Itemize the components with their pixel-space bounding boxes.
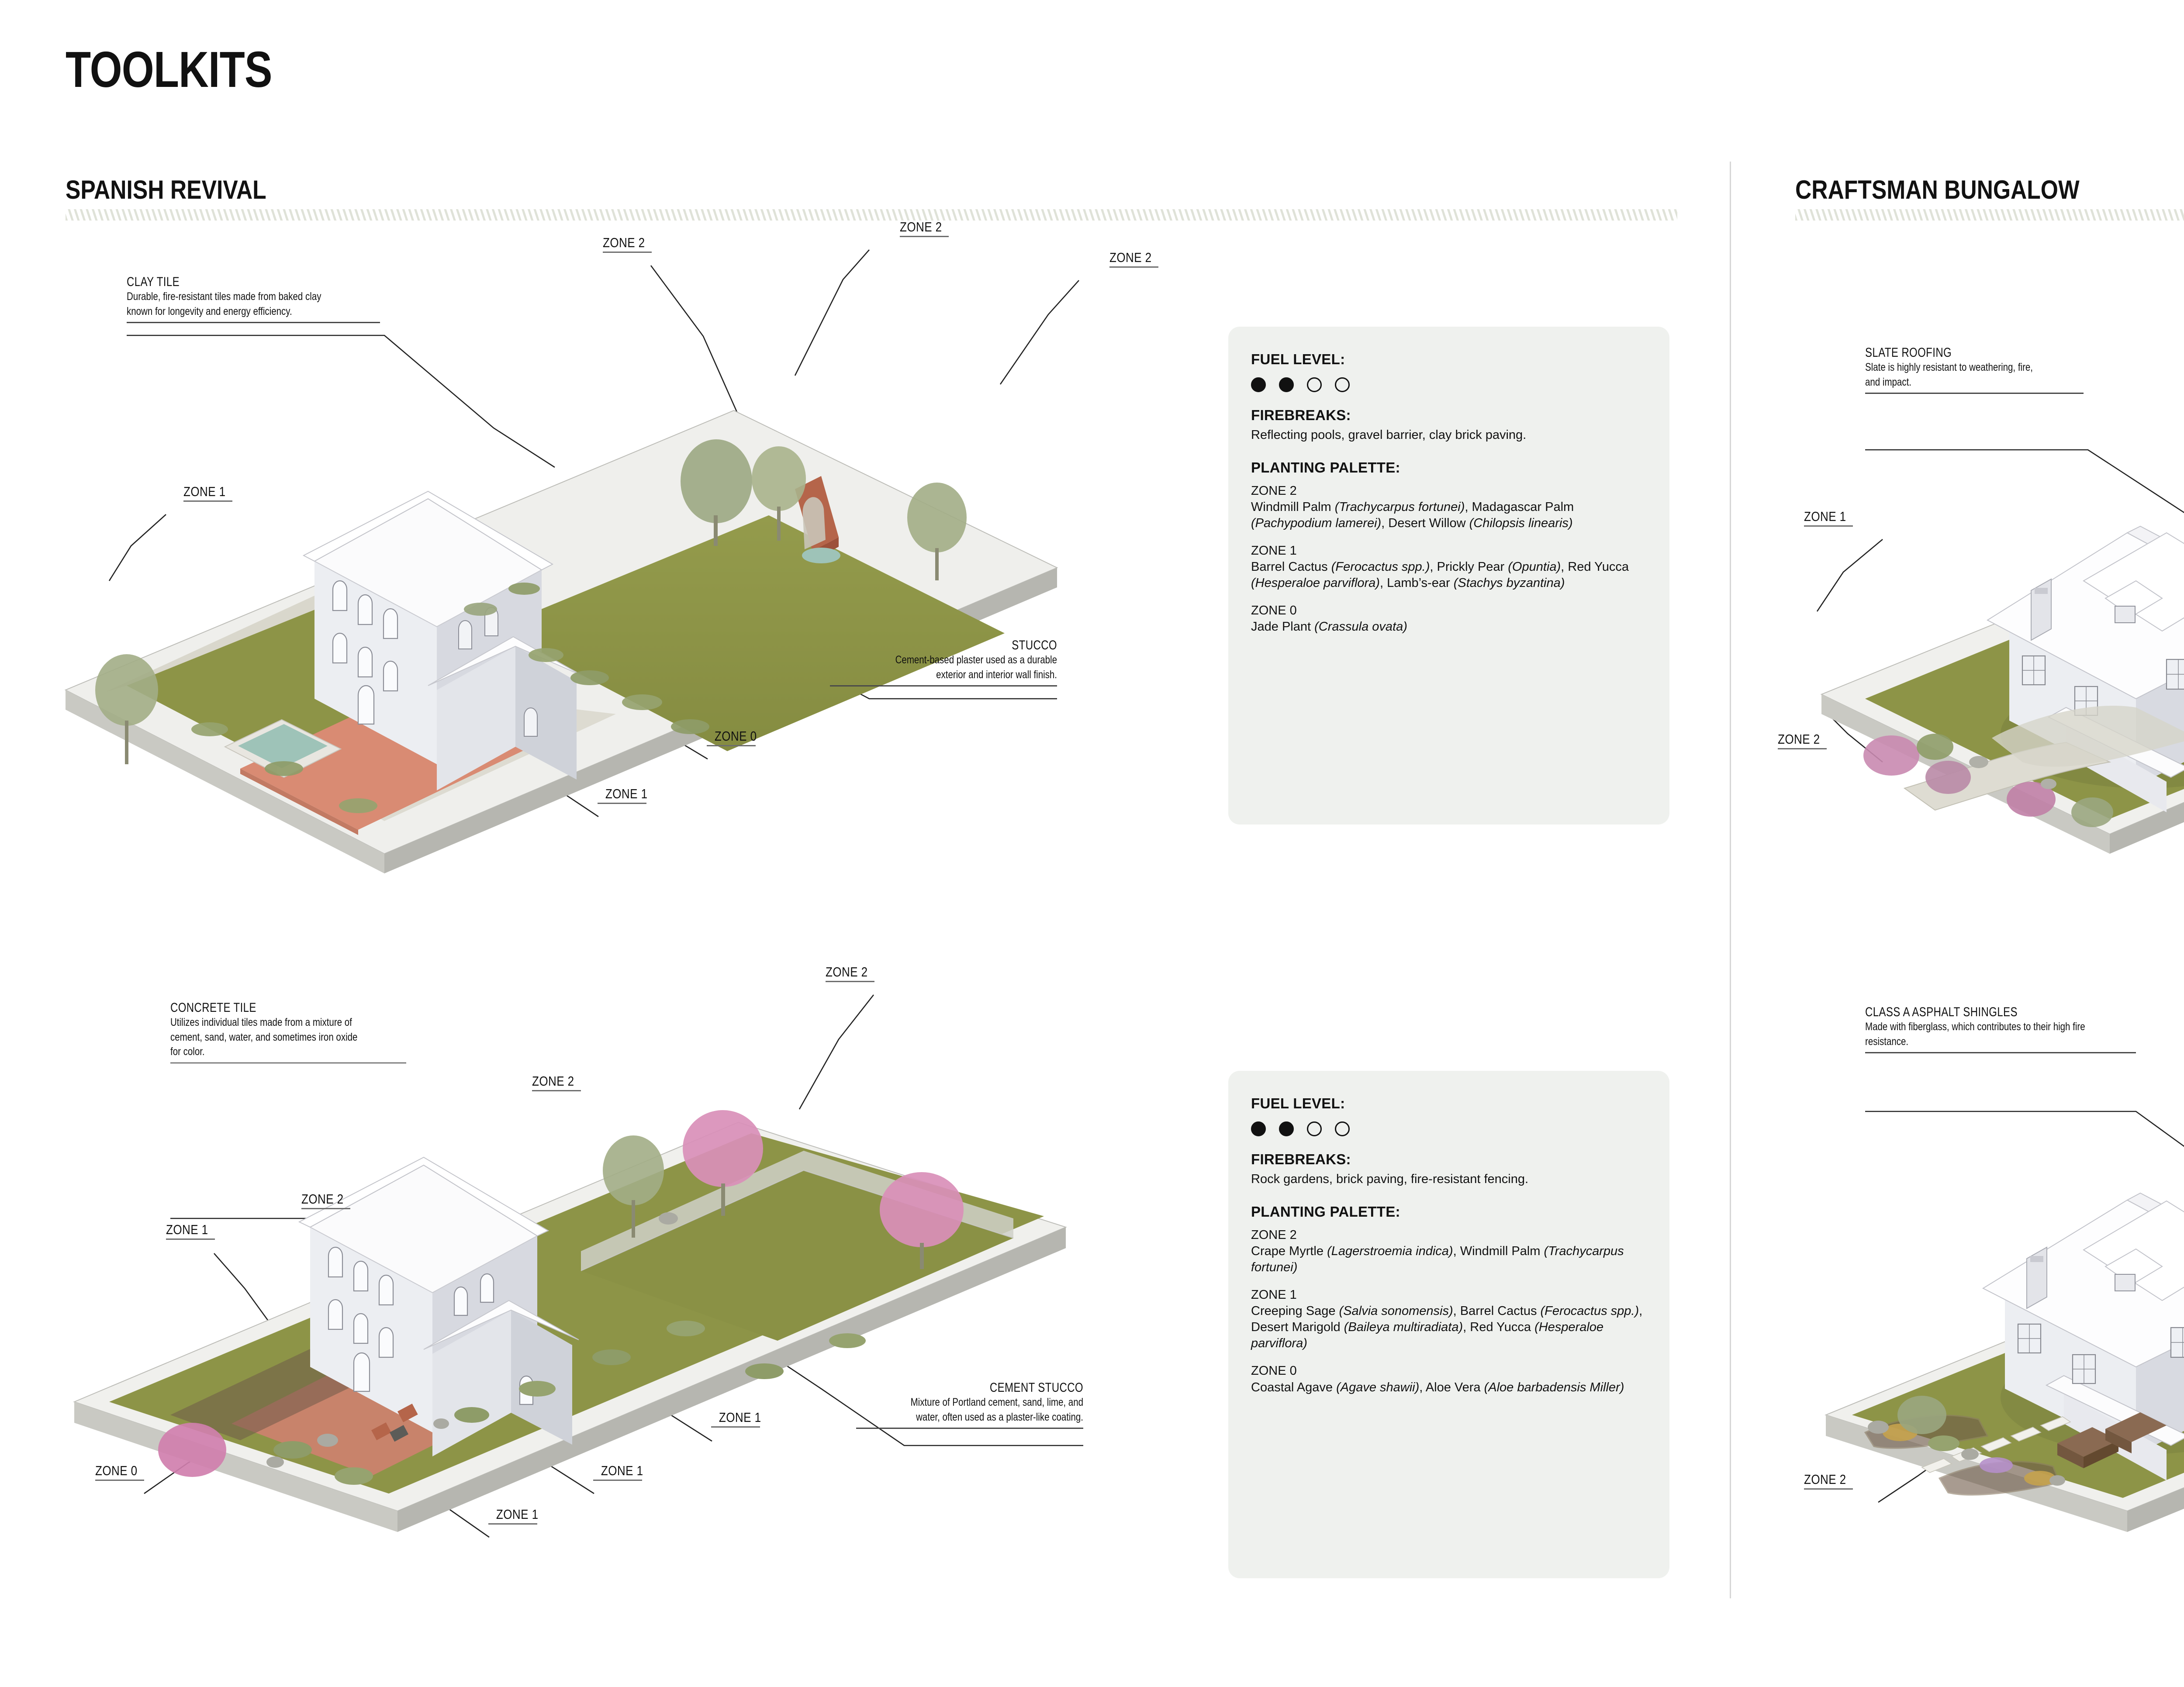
scene-svg <box>66 1039 1083 1528</box>
callout-clay-tile: CLAY TILE Durable, fire-resistant tiles … <box>127 274 380 323</box>
callout-rule <box>1865 1052 2136 1053</box>
zone-label-z1-left: ZONE 1 <box>166 1223 215 1240</box>
zone-text: ZONE 2 <box>826 965 867 979</box>
zone-label-z0: ZONE 0 <box>707 729 756 746</box>
zone-rule <box>900 236 949 237</box>
zone-label-z2-c: ZONE 2 <box>1109 251 1158 268</box>
section-rule <box>66 209 1677 221</box>
planting-palette-heading: PLANTING PALETTE: <box>1251 459 1647 476</box>
zone-rule <box>166 1239 215 1240</box>
callout-body: Slate is highly resistant to weathering,… <box>1865 360 2044 390</box>
fuel-dot-3-empty <box>1307 1121 1322 1136</box>
zone-rule <box>301 1208 350 1209</box>
firebreaks-text: Rock gardens, brick paving, fire-resista… <box>1251 1171 1647 1188</box>
section-title: SPANISH REVIVAL <box>66 175 1451 205</box>
zone-label-z2-a: ZONE 2 <box>603 236 652 253</box>
fuel-level-heading: FUEL LEVEL: <box>1251 1095 1647 1112</box>
plant-common-name: Barrel Cactus <box>1460 1304 1537 1318</box>
page-title: TOOLKITS <box>66 40 272 99</box>
plant-common-name: Aloe Vera <box>1426 1380 1481 1394</box>
fuel-level-dots <box>1251 377 1647 392</box>
palette-plant-list: Barrel Cactus (Ferocactus spp.), Prickly… <box>1251 559 1647 591</box>
palette-plant-list: Coastal Agave (Agave shawii), Aloe Vera … <box>1251 1380 1647 1396</box>
palette-zone-group: ZONE 2Crape Myrtle (Lagerstroemia indica… <box>1251 1227 1647 1276</box>
plant-common-name: Lamb’s-ear <box>1387 576 1450 590</box>
plant-common-name: Desert Marigold <box>1251 1320 1341 1334</box>
callout-slate-roofing: SLATE ROOFING Slate is highly resistant … <box>1865 345 2084 394</box>
callout-rule <box>1865 393 2084 394</box>
zone-label-z2-mid: ZONE 2 <box>532 1074 581 1091</box>
plant-latin-name: (Pachypodium lamerei) <box>1251 516 1381 530</box>
palette-zone-label: ZONE 1 <box>1251 1287 1647 1303</box>
plant-common-name: Creeping Sage <box>1251 1304 1335 1318</box>
zone-label-z2-left-low: ZONE 2 <box>1778 732 1827 749</box>
zone-rule <box>1804 525 1853 527</box>
zone-label-z1-left: ZONE 1 <box>183 485 232 502</box>
callout-stucco: STUCCO Cement-based plaster used as a du… <box>830 638 1057 687</box>
plant-latin-name: (Baileya multiradiata) <box>1344 1320 1463 1334</box>
plant-common-name: Desert Willow <box>1388 516 1465 530</box>
zone-text: ZONE 1 <box>601 1464 642 1477</box>
plant-common-name: Red Yucca <box>1470 1320 1531 1334</box>
plant-latin-name: (Salvia sonomensis) <box>1339 1304 1453 1318</box>
section-header-spanish-revival: SPANISH REVIVAL <box>66 175 1677 221</box>
fuel-dot-1-filled <box>1251 1121 1266 1136</box>
zone-label-z2-side: ZONE 2 <box>301 1192 350 1209</box>
palette-zone-group: ZONE 0Coastal Agave (Agave shawii), Aloe… <box>1251 1363 1647 1395</box>
plant-common-name: Barrel Cactus <box>1251 560 1328 574</box>
zone-label-z2-left: ZONE 2 <box>1804 1473 1853 1490</box>
fuel-level-heading: FUEL LEVEL: <box>1251 351 1647 368</box>
zone-rule <box>598 803 646 804</box>
fuel-dot-4-empty <box>1335 1121 1350 1136</box>
zone-label-z0: ZONE 0 <box>95 1464 144 1481</box>
zone-text: ZONE 2 <box>1778 732 1819 746</box>
zone-text: ZONE 2 <box>1804 1473 1845 1486</box>
plant-latin-name: (Hesperaloe parviflora) <box>1251 576 1380 590</box>
scene-svg <box>52 384 1070 865</box>
info-panel-spanish-revival-2: FUEL LEVEL: FIREBREAKS: Rock gardens, br… <box>1228 1071 1669 1578</box>
zone-text: ZONE 1 <box>183 485 225 498</box>
planting-palette-list: ZONE 2Windmill Palm (Trachycarpus fortun… <box>1251 483 1647 635</box>
plant-common-name: Red Yucca <box>1568 560 1629 574</box>
zone-rule <box>826 981 874 982</box>
zone-text: ZONE 2 <box>900 220 941 234</box>
plant-common-name: Jade Plant <box>1251 620 1311 634</box>
callout-title: CONCRETE TILE <box>170 1000 359 1015</box>
callout-title: STUCCO <box>875 638 1057 653</box>
zone-rule <box>593 1480 642 1481</box>
callout-body: Mixture of Portland cement, sand, lime, … <box>897 1395 1083 1425</box>
callout-body: Durable, fire-resistant tiles made from … <box>127 290 335 319</box>
palette-zone-group: ZONE 0Jade Plant (Crassula ovata) <box>1251 603 1647 635</box>
zone-label-z1-bottom: ZONE 1 <box>598 787 646 804</box>
zone-text: ZONE 0 <box>715 729 756 743</box>
fuel-dot-2-filled <box>1279 377 1294 392</box>
palette-plant-list: Crape Myrtle (Lagerstroemia indica), Win… <box>1251 1243 1647 1276</box>
zone-rule <box>488 1523 537 1525</box>
firebreaks-text: Reflecting pools, gravel barrier, clay b… <box>1251 427 1647 444</box>
isometric-scene-craftsman-2 <box>1813 1048 2184 1528</box>
callout-title: CLASS A ASPHALT SHINGLES <box>1865 1004 2082 1020</box>
zone-label-z1-left: ZONE 1 <box>1804 510 1853 527</box>
section-header-craftsman-bungalow: CRAFTSMAN BUNGALOW <box>1795 175 2184 221</box>
callout-rule <box>127 322 380 323</box>
callout-concrete-tile: CONCRETE TILE Utilizes individual tiles … <box>170 1000 406 1063</box>
planting-palette-list: ZONE 2Crape Myrtle (Lagerstroemia indica… <box>1251 1227 1647 1396</box>
plant-latin-name: (Lagerstroemia indica) <box>1327 1244 1453 1258</box>
isometric-scene-spanish-revival-1 <box>52 384 1070 865</box>
section-rule <box>1795 209 2184 221</box>
callout-title: CEMENT STUCCO <box>902 1380 1083 1395</box>
firebreaks-heading: FIREBREAKS: <box>1251 1151 1647 1168</box>
zone-rule <box>183 500 232 502</box>
zone-text: ZONE 2 <box>1109 251 1151 264</box>
callout-rule <box>830 685 1057 687</box>
zone-label-z1-low: ZONE 1 <box>593 1464 642 1481</box>
column-divider <box>1730 162 1731 1598</box>
plant-common-name: Coastal Agave <box>1251 1380 1333 1394</box>
plant-common-name: Windmill Palm <box>1460 1244 1541 1258</box>
palette-zone-group: ZONE 2Windmill Palm (Trachycarpus fortun… <box>1251 483 1647 531</box>
callout-body: Cement-based plaster used as a durable e… <box>871 653 1057 682</box>
planting-palette-heading: PLANTING PALETTE: <box>1251 1204 1647 1220</box>
palette-zone-label: ZONE 1 <box>1251 543 1647 559</box>
zone-text: ZONE 1 <box>1804 510 1845 523</box>
zone-rule <box>707 745 756 746</box>
plant-common-name: Windmill Palm <box>1251 500 1331 514</box>
fuel-dot-2-filled <box>1279 1121 1294 1136</box>
plant-common-name: Prickly Pear <box>1437 560 1505 574</box>
plant-latin-name: (Ferocactus spp.) <box>1541 1304 1639 1318</box>
zone-text: ZONE 2 <box>532 1074 573 1088</box>
callout-rule <box>170 1063 406 1064</box>
palette-zone-group: ZONE 1Barrel Cactus (Ferocactus spp.), P… <box>1251 543 1647 591</box>
callout-class-a-asphalt-shingles: CLASS A ASPHALT SHINGLES Made with fiber… <box>1865 1004 2136 1053</box>
zone-text: ZONE 1 <box>496 1508 537 1521</box>
plant-latin-name: (Trachycarpus fortunei) <box>1335 500 1465 514</box>
zone-text: ZONE 0 <box>95 1464 136 1477</box>
zone-rule <box>711 1426 760 1428</box>
zone-rule <box>1109 266 1158 268</box>
palette-zone-label: ZONE 2 <box>1251 483 1647 499</box>
callout-title: SLATE ROOFING <box>1865 345 2040 360</box>
zone-rule <box>95 1480 144 1481</box>
zone-text: ZONE 1 <box>719 1411 760 1424</box>
zone-label-z1-mid-right: ZONE 1 <box>711 1411 760 1428</box>
zone-rule <box>1804 1488 1853 1490</box>
plant-latin-name: (Stachys byzantina) <box>1454 576 1565 590</box>
section-title: CRAFTSMAN BUNGALOW <box>1795 175 2184 205</box>
callout-body: Utilizes individual tiles made from a mi… <box>170 1015 364 1059</box>
zone-label-z2-top: ZONE 2 <box>826 965 874 982</box>
fuel-dot-1-filled <box>1251 377 1266 392</box>
zone-text: ZONE 2 <box>603 236 644 249</box>
zone-label-z2-b: ZONE 2 <box>900 220 949 237</box>
palette-plant-list: Jade Plant (Crassula ovata) <box>1251 619 1647 635</box>
plant-common-name: Madagascar Palm <box>1472 500 1574 514</box>
fuel-level-dots <box>1251 1121 1647 1136</box>
isometric-scene-spanish-revival-2 <box>66 1039 1083 1528</box>
zone-text: ZONE 1 <box>166 1223 207 1236</box>
firebreaks-heading: FIREBREAKS: <box>1251 407 1647 424</box>
zone-text: ZONE 1 <box>605 787 646 800</box>
fuel-dot-3-empty <box>1307 377 1322 392</box>
palette-plant-list: Windmill Palm (Trachycarpus fortunei), M… <box>1251 499 1647 531</box>
zone-rule <box>532 1090 581 1091</box>
callout-rule <box>856 1428 1083 1429</box>
scene-svg <box>1813 1048 2184 1528</box>
scene-svg <box>1804 393 2184 830</box>
callout-title: CLAY TILE <box>127 274 329 290</box>
palette-plant-list: Creeping Sage (Salvia sonomensis), Barre… <box>1251 1303 1647 1352</box>
zone-rule <box>1778 748 1827 749</box>
plant-latin-name: (Chilopsis linearis) <box>1469 516 1573 530</box>
plant-common-name: Crape Myrtle <box>1251 1244 1324 1258</box>
zone-rule <box>603 252 652 253</box>
zone-label-z1-lowest: ZONE 1 <box>488 1508 537 1525</box>
palette-zone-label: ZONE 2 <box>1251 1227 1647 1243</box>
palette-zone-group: ZONE 1Creeping Sage (Salvia sonomensis),… <box>1251 1287 1647 1352</box>
info-panel-spanish-revival-1: FUEL LEVEL: FIREBREAKS: Reflecting pools… <box>1228 327 1669 825</box>
callout-cement-stucco: CEMENT STUCCO Mixture of Portland cement… <box>856 1380 1083 1429</box>
palette-zone-label: ZONE 0 <box>1251 603 1647 619</box>
plant-latin-name: (Crassula ovata) <box>1314 620 1407 634</box>
plant-latin-name: (Agave shawii) <box>1336 1380 1419 1394</box>
zone-text: ZONE 2 <box>301 1192 342 1206</box>
plant-latin-name: (Ferocactus spp.) <box>1331 560 1430 574</box>
isometric-scene-craftsman-1 <box>1804 393 2184 830</box>
fuel-dot-4-empty <box>1335 377 1350 392</box>
callout-body: Made with fiberglass, which contributes … <box>1865 1020 2087 1049</box>
plant-latin-name: (Aloe barbadensis Miller) <box>1484 1380 1624 1394</box>
plant-latin-name: (Opuntia) <box>1508 560 1561 574</box>
palette-zone-label: ZONE 0 <box>1251 1363 1647 1379</box>
